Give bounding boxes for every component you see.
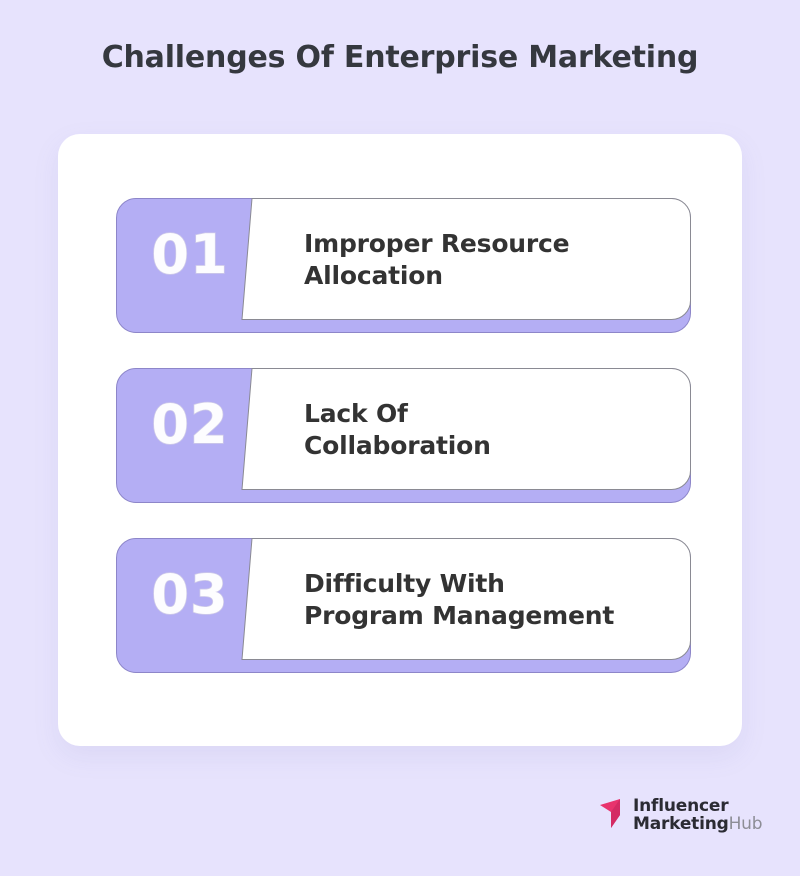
logo-text-hub: Hub	[729, 814, 763, 834]
challenge-card[interactable]: 01 Improper Resource Allocation	[116, 198, 691, 333]
challenge-card[interactable]: 02 Lack Of Collaboration	[116, 368, 691, 503]
card-label-line-1: Improper Resource	[304, 228, 679, 260]
card-label-line-1: Difficulty With	[304, 568, 679, 600]
card-number: 02	[130, 398, 250, 452]
card-number: 03	[130, 568, 250, 622]
page-title: Challenges Of Enterprise Marketing	[0, 40, 800, 75]
influencer-marketing-hub-arrow-icon	[600, 799, 626, 833]
card-label-line-2: Collaboration	[304, 430, 679, 462]
card-label: Improper Resource Allocation	[304, 228, 679, 292]
brand-logo[interactable]: Influencer MarketingHub	[600, 798, 762, 834]
logo-text-marketing: Marketing	[633, 814, 729, 834]
challenge-card-list: 01 Improper Resource Allocation 02 Lack …	[58, 198, 742, 673]
card-number: 01	[130, 228, 250, 282]
card-label-line-1: Lack Of	[304, 398, 679, 430]
card-label-line-2: Program Management	[304, 600, 679, 632]
challenge-card[interactable]: 03 Difficulty With Program Management	[116, 538, 691, 673]
card-label: Lack Of Collaboration	[304, 398, 679, 462]
card-label: Difficulty With Program Management	[304, 568, 679, 632]
card-label-line-2: Allocation	[304, 260, 679, 292]
logo-line-marketinghub: MarketingHub	[633, 816, 762, 834]
logo-wordmark: Influencer MarketingHub	[633, 798, 762, 834]
